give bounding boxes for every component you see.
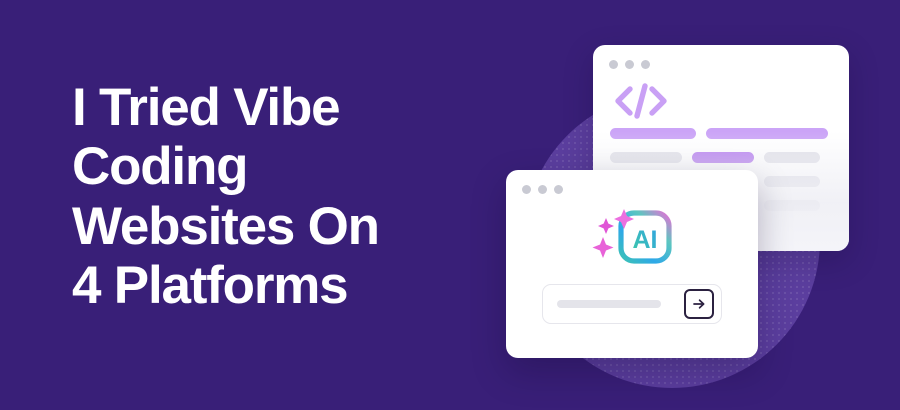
poster-canvas: I Tried Vibe Coding Websites On 4 Platfo… [0,0,900,410]
traffic-dot-1 [609,60,618,69]
prompt-placeholder-bar [557,300,661,308]
code-bar [764,200,820,211]
ai-prompt-window: AI [506,170,758,358]
code-bar [764,152,820,163]
traffic-dot-2 [538,185,547,194]
traffic-dot-3 [554,185,563,194]
code-bar [610,152,682,163]
code-bar [764,176,820,187]
window-traffic-lights [522,185,563,194]
code-bar-row [610,128,835,139]
window-traffic-lights [609,60,650,69]
arrow-right-icon[interactable] [684,289,714,319]
traffic-dot-2 [625,60,634,69]
ai-badge-icon: AI [590,206,676,268]
code-bar [610,128,696,139]
code-brackets-icon [610,76,672,126]
headline-line-2: Coding [72,137,492,196]
traffic-dot-3 [641,60,650,69]
svg-text:AI: AI [633,226,658,254]
page-title: I Tried Vibe Coding Websites On 4 Platfo… [72,78,492,315]
code-bar [706,128,828,139]
code-bar [692,152,754,163]
headline-line-3: Websites On [72,197,492,256]
traffic-dot-1 [522,185,531,194]
code-bar-row [610,152,835,163]
headline-line-1: I Tried Vibe [72,78,492,137]
prompt-input[interactable] [542,284,722,324]
headline-line-4: 4 Platforms [72,256,492,315]
